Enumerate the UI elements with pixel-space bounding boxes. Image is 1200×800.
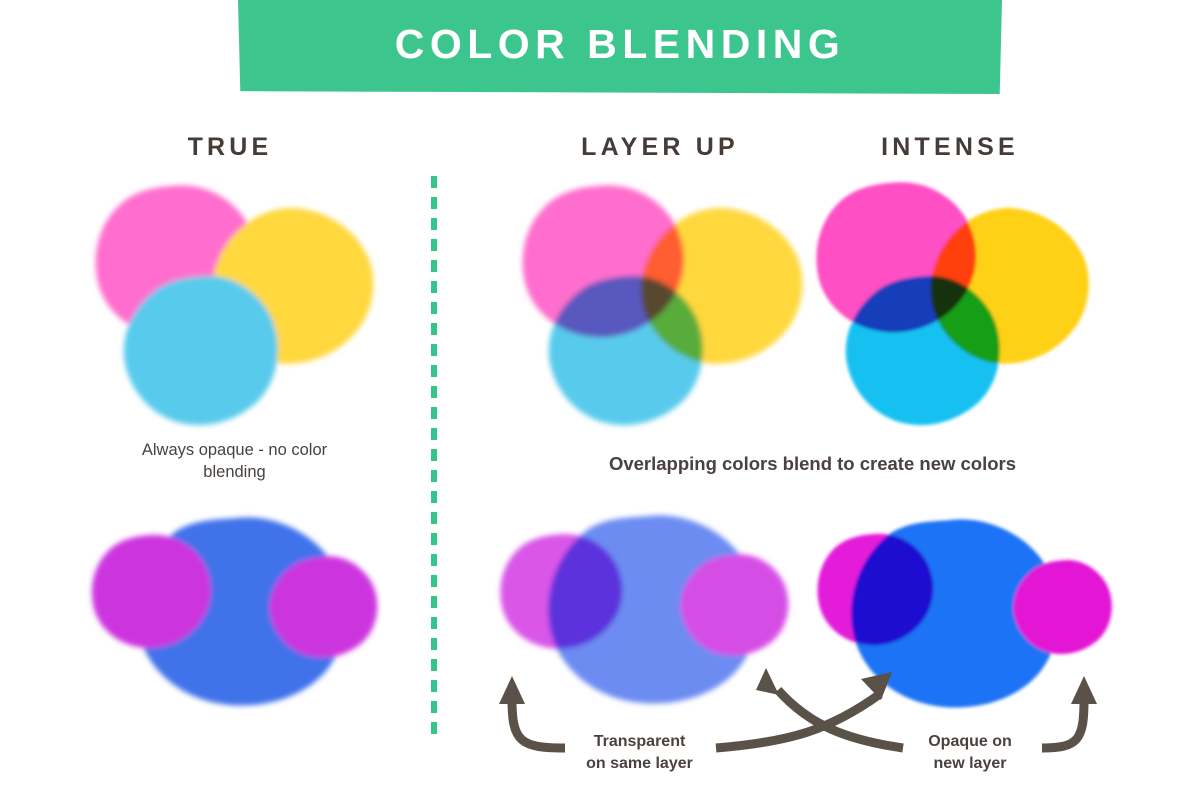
arrow-opaque-right-shaft xyxy=(1042,700,1084,748)
page-title: COLOR BLENDING xyxy=(238,0,1002,88)
arrow-opaque-left-head xyxy=(756,668,779,695)
caption-blending: Overlapping colors blend to create new c… xyxy=(500,452,1125,476)
layerup-cyan-circle xyxy=(549,276,703,425)
intense-row1-circles xyxy=(816,182,1088,425)
artwork-layer xyxy=(0,0,1200,800)
column-heading-layer-up: LAYER UP xyxy=(560,133,760,162)
intense-cyan-circle xyxy=(846,276,1000,425)
column-heading-intense: INTENSE xyxy=(850,133,1050,162)
arrow-transparent-left-head xyxy=(499,676,525,704)
true-magenta-circle-right xyxy=(270,556,378,657)
layerup-row2-blobs xyxy=(500,515,788,703)
arrow-transparent-left-shaft xyxy=(512,700,565,748)
arrow-opaque-right-head xyxy=(1071,676,1097,704)
true-cyan-circle xyxy=(124,276,278,425)
true-row1-circles xyxy=(96,185,374,425)
caption-transparent-same-layer: Transparent on same layer xyxy=(562,731,717,775)
section-divider xyxy=(431,176,437,742)
caption-true-opaque: Always opaque - no color blending xyxy=(112,440,357,484)
layerup-row1-circles xyxy=(523,185,803,425)
true-row2-blobs xyxy=(92,517,377,705)
intense-magenta-circle-right xyxy=(1013,560,1112,654)
infographic-canvas: COLOR BLENDING TRUE LAYER UP INTENSE Alw… xyxy=(0,0,1200,800)
column-heading-true: TRUE xyxy=(130,133,330,162)
caption-opaque-new-layer: Opaque on new layer xyxy=(900,731,1040,775)
title-banner: COLOR BLENDING xyxy=(238,0,1002,94)
layerup-magenta-circle-right xyxy=(681,554,789,655)
